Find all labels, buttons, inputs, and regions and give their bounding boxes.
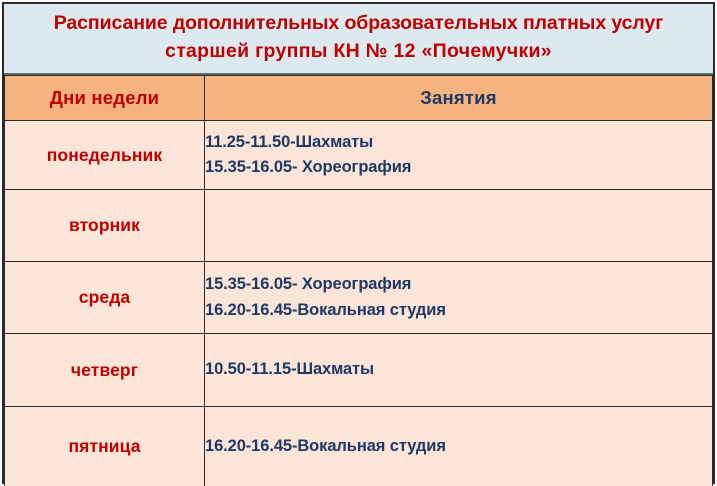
classes-cell-monday: 11.25-11.50-Шахматы 15.35-16.05- Хореогр… [205,121,713,190]
class-entry: 16.20-16.45-Вокальная студия [205,298,712,323]
class-entry: 11.25-11.50-Шахматы [205,130,712,155]
class-entry: 16.20-16.45-Вокальная студия [205,434,712,459]
schedule-title-band: Расписание дополнительных образовательны… [4,4,713,75]
day-label-thursday: четверг [5,334,205,407]
schedule-title-line-2: старшей группы КН № 12 «Почемучки» [165,38,552,66]
day-label-monday: понедельник [5,121,205,190]
classes-cell-friday: 16.20-16.45-Вокальная студия [205,407,713,486]
day-label-friday: пятница [5,407,205,486]
schedule-table-head: Дни недели Занятия [5,76,713,121]
class-entry: 10.50-11.15-Шахматы [205,357,712,382]
schedule-frame: Расписание дополнительных образовательны… [2,2,715,484]
classes-cell-wednesday: 15.35-16.05- Хореография 16.20-16.45-Вок… [205,262,713,334]
classes-cell-thursday: 10.50-11.15-Шахматы [205,334,713,407]
class-entry: 15.35-16.05- Хореография [205,272,712,297]
column-header-days: Дни недели [5,76,205,121]
schedule-title-line-1: Расписание дополнительных образовательны… [54,10,663,38]
schedule-table: Дни недели Занятия понедельник 11.25-11.… [4,75,713,486]
class-entry: 15.35-16.05- Хореография [205,155,712,180]
column-header-classes: Занятия [205,76,713,121]
table-row: вторник [5,190,713,262]
day-label-wednesday: среда [5,262,205,334]
table-row: среда 15.35-16.05- Хореография 16.20-16.… [5,262,713,334]
schedule-table-body: понедельник 11.25-11.50-Шахматы 15.35-16… [5,121,713,486]
table-row: понедельник 11.25-11.50-Шахматы 15.35-16… [5,121,713,190]
table-header-row: Дни недели Занятия [5,76,713,121]
classes-cell-tuesday [205,190,713,262]
table-row: четверг 10.50-11.15-Шахматы [5,334,713,407]
schedule-page: Расписание дополнительных образовательны… [0,0,717,486]
table-row: пятница 16.20-16.45-Вокальная студия [5,407,713,486]
day-label-tuesday: вторник [5,190,205,262]
